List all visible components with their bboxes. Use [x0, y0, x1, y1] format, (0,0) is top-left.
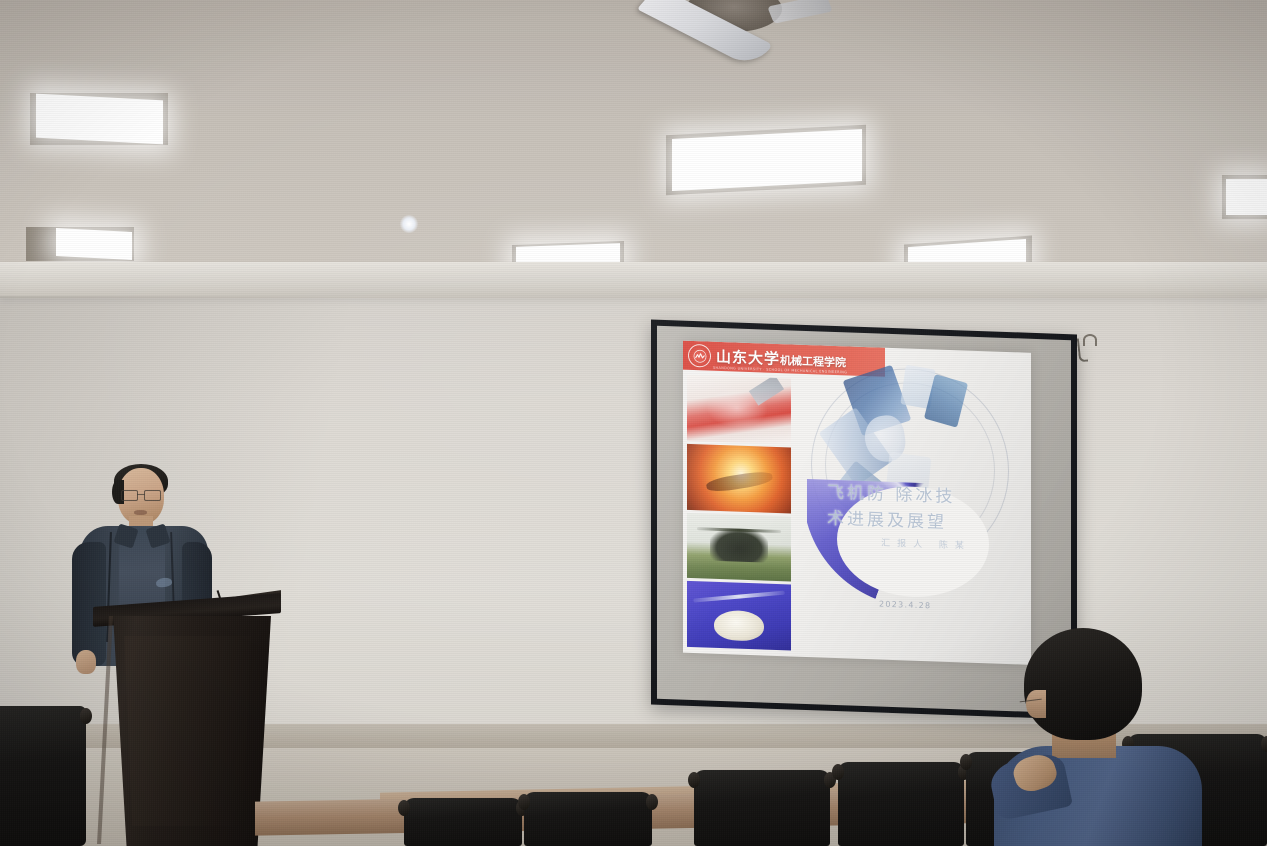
photo-green-helicopter: [687, 512, 791, 581]
wall-bracket-hook-icon: [1083, 334, 1097, 346]
attendee-hair: [1024, 628, 1142, 740]
podium-front-panel: [119, 636, 251, 826]
presenter-mouth: [134, 510, 147, 515]
light-panel-1: [36, 94, 163, 145]
slide-photo-strip: [687, 375, 791, 651]
seat: [404, 798, 522, 846]
slide-title: 飞机防 除冰技 术进展及展望: [827, 480, 1013, 538]
podium: [93, 600, 281, 846]
seat: [524, 792, 652, 846]
sdu-seal-icon: [688, 344, 711, 368]
ceiling-fan-blade-secondary: [767, 0, 833, 24]
seat: [838, 762, 964, 846]
light-panel-2: [56, 228, 132, 260]
light-panel-6: [1226, 179, 1267, 215]
wall-soffit: [0, 262, 1267, 298]
seated-attendee: [990, 628, 1220, 846]
seat-left-foreground: [0, 706, 86, 846]
seat: [694, 770, 830, 846]
slide-date: 2023.4.28: [879, 600, 931, 611]
podium-edge: [97, 616, 113, 844]
lecture-hall-scene: 山东大学机械工程学院 SHANDONG UNIVERSITY · SCHOOL …: [0, 0, 1267, 846]
presenter-glasses-icon: [120, 490, 162, 499]
screen-reflection-spot: [400, 215, 418, 233]
slide-circular-collage: 飞机防 除冰技 术进展及展望 汇报人 陈某: [799, 361, 1023, 637]
photo-blue-helicopter: [687, 581, 791, 650]
photo-sunset-plane: [687, 444, 791, 513]
photo-red-aircraft: [687, 375, 791, 444]
ceiling: [0, 0, 1267, 300]
presentation-slide: 山东大学机械工程学院 SHANDONG UNIVERSITY · SCHOOL …: [683, 341, 1031, 665]
light-panel-3: [672, 129, 862, 191]
